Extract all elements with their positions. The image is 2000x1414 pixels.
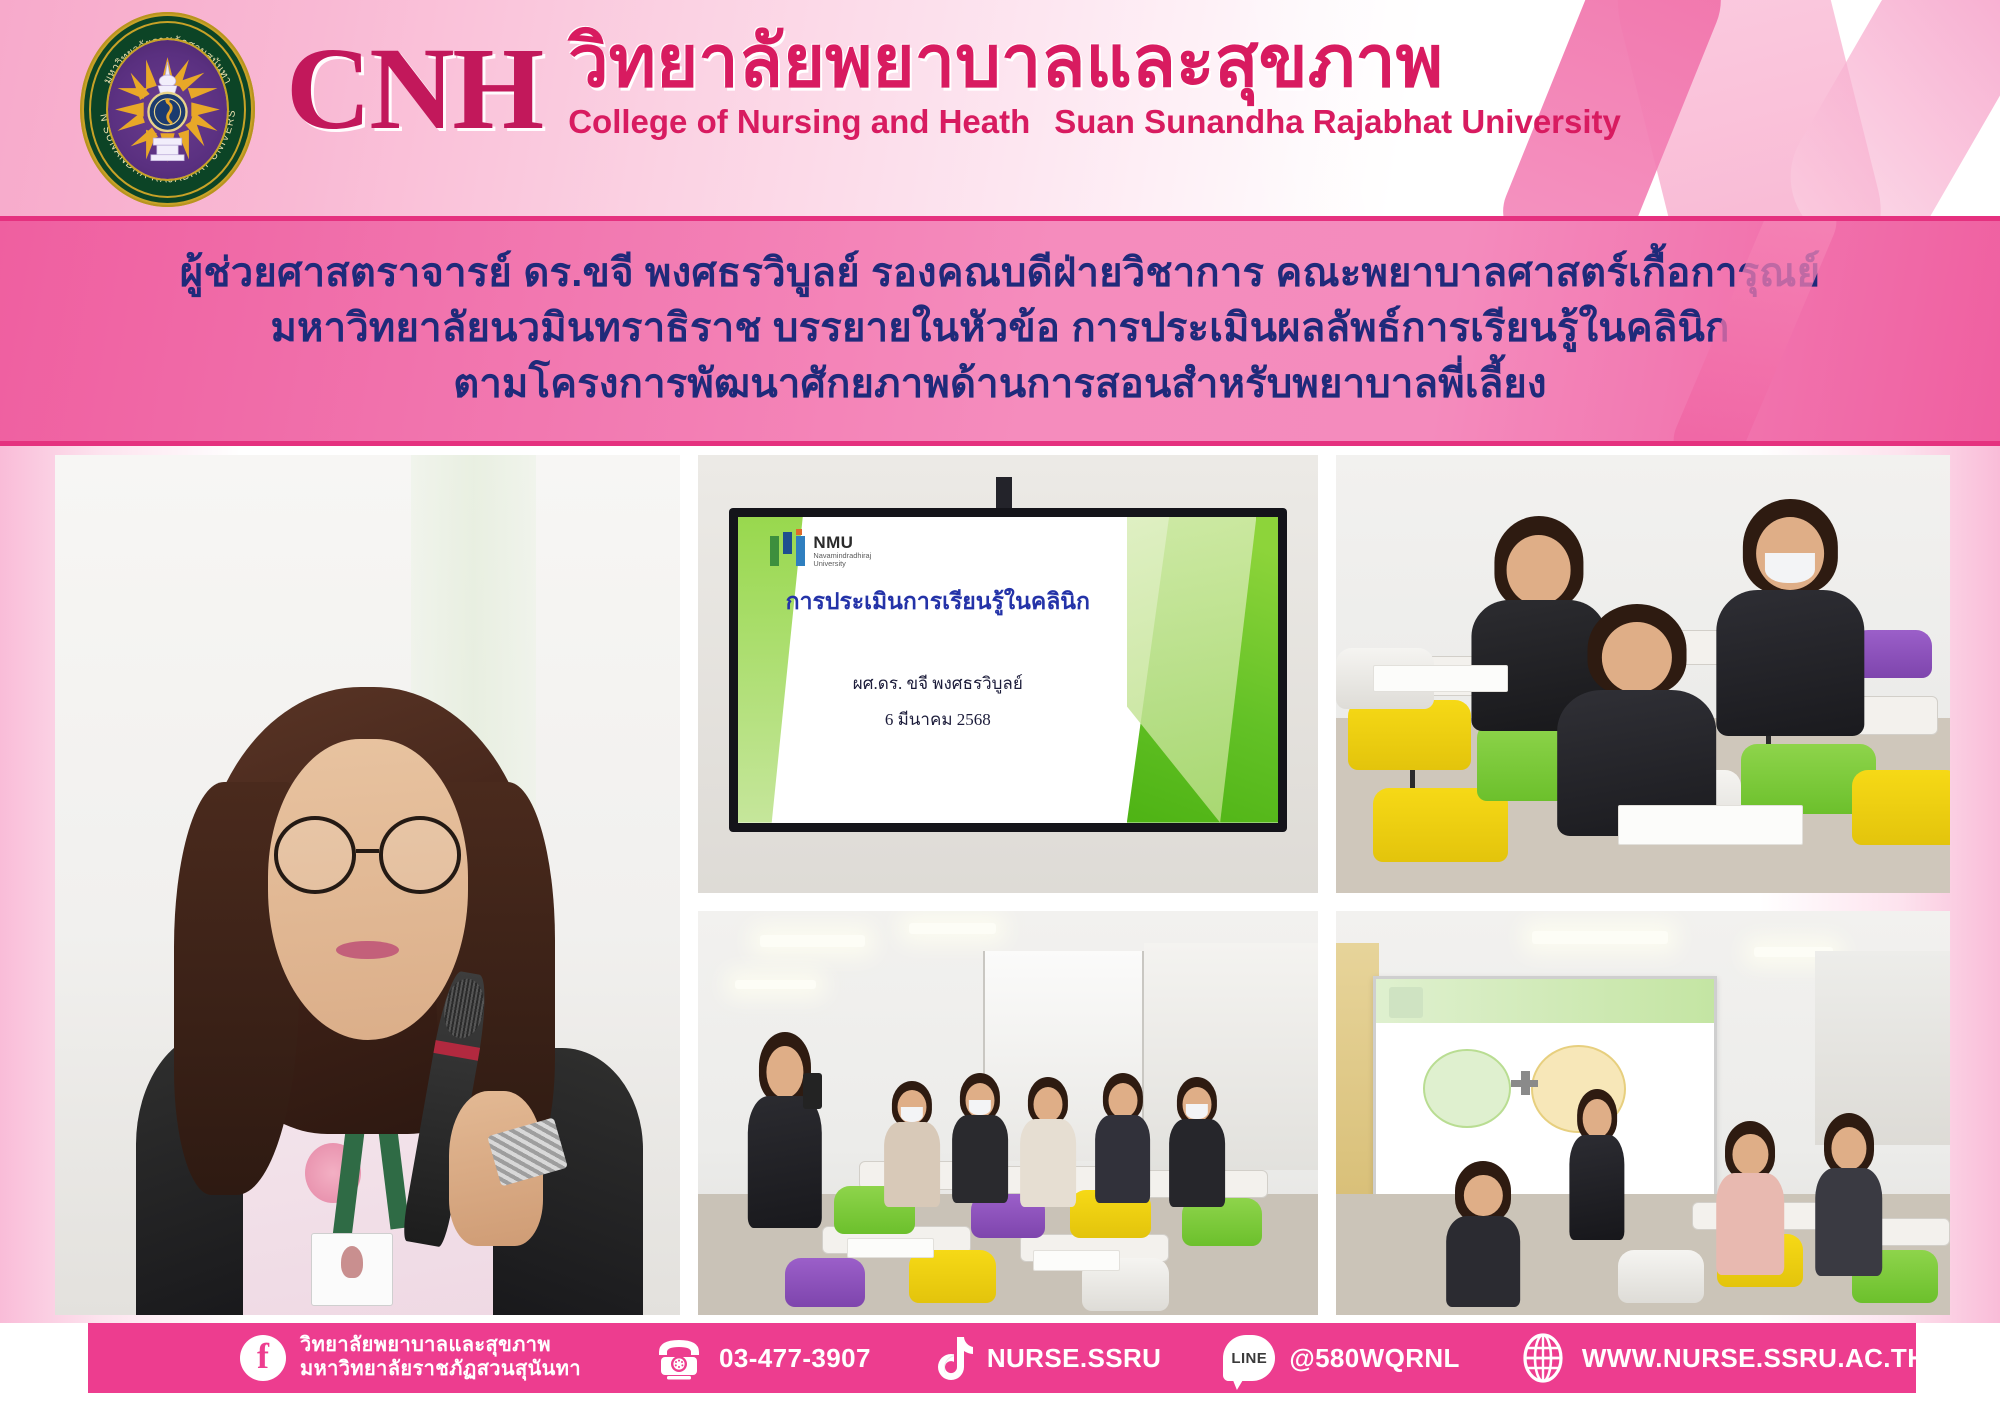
nmu-logo-name: NMU [813, 534, 871, 552]
projection-screen [1373, 976, 1717, 1202]
tiktok-icon[interactable] [933, 1335, 973, 1381]
tv-display: NMU Navamindradhiraj University การประเม… [729, 508, 1287, 832]
ssru-seal-icon: มหาวิทยาลัยราชภัฏสวนสุนันทา SUAN SUNANDH… [80, 12, 255, 207]
phone-icon[interactable] [653, 1336, 705, 1380]
line-id-label: @580WQRNL [1289, 1343, 1460, 1374]
eyeglasses-icon [274, 816, 462, 893]
footer-item-tiktok[interactable]: NURSE.SSRU [933, 1335, 1161, 1381]
college-name-thai: วิทยาลัยพยาบาลและสุขภาพ [568, 26, 1621, 99]
footer-item-facebook[interactable]: f วิทยาลัยพยาบาลและสุขภาพ มหาวิทยาลัยราช… [240, 1334, 581, 1381]
audience-person [1815, 1113, 1883, 1267]
footer-item-website[interactable]: WWW.NURSE.SSRU.AC.TH [1518, 1333, 1927, 1383]
audience-person [1717, 1121, 1785, 1266]
header-ribbon-decoration-2 [1592, 0, 1897, 216]
banner-line-2: มหาวิทยาลัยนวมินทราธิราช บรรยายในหัวข้อ … [270, 301, 1729, 356]
presenter-person [748, 1032, 822, 1226]
header-bar: มหาวิทยาลัยราชภัฏสวนสุนันทา SUAN SUNANDH… [0, 0, 2000, 216]
audience-person [1020, 1077, 1076, 1202]
facebook-label-line2: มหาวิทยาลัยราชภัฏสวนสุนันทา [300, 1358, 581, 1382]
footer-contact-bar: f วิทยาลัยพยาบาลและสุขภาพ มหาวิทยาลัยราช… [88, 1323, 1916, 1393]
seal-emblem [108, 40, 227, 179]
photo-classroom-wide [698, 911, 1318, 1315]
audience-person [1717, 499, 1864, 727]
facebook-icon[interactable]: f [240, 1335, 286, 1381]
audience-person [1095, 1073, 1151, 1198]
university-name-english: Suan Sunandha Rajabhat University [1054, 103, 1621, 140]
slide-date: 6 มีนาคม 2568 [738, 706, 1138, 733]
nmu-logo-icon: NMU Navamindradhiraj University [770, 532, 871, 570]
presenter-person [1569, 1089, 1624, 1234]
slide-screen: NMU Navamindradhiraj University การประเม… [738, 517, 1278, 823]
college-name-line: College of Nursing and HeathSuan Sunandh… [568, 103, 1621, 141]
phone-number-label: 03-477-3907 [719, 1343, 871, 1374]
website-url-label: WWW.NURSE.SSRU.AC.TH [1582, 1343, 1927, 1374]
college-name-english: College of Nursing and Heath [568, 103, 1030, 140]
audience-person [1169, 1077, 1225, 1202]
brand-lockup: CNH วิทยาลัยพยาบาลและสุขภาพ College of N… [286, 22, 1621, 148]
slide-presenter: ผศ.ดร. ขจี พงศธรวิบูลย์ [738, 670, 1138, 697]
banner-line-1: ผู้ช่วยศาสตราจารย์ ดร.ขจี พงศธรวิบูลย์ ร… [180, 246, 1820, 301]
nmu-logo-sub2: University [813, 560, 871, 568]
footer-item-line[interactable]: LINE @580WQRNL [1223, 1335, 1460, 1381]
photo-presentation-slide: NMU Navamindradhiraj University การประเม… [698, 455, 1318, 893]
slide-title: การประเมินการเรียนรู้ในคลินิก [738, 584, 1138, 620]
tiktok-handle-label: NURSE.SSRU [987, 1343, 1161, 1374]
title-banner: ผู้ช่วยศาสตราจารย์ ดร.ขจี พงศธรวิบูลย์ ร… [0, 216, 2000, 446]
line-badge-label: LINE [1231, 1350, 1267, 1367]
photo-grid: NMU Navamindradhiraj University การประเม… [55, 455, 1950, 1315]
header-ribbon-decoration-3 [1765, 0, 2000, 216]
audience-person [1447, 1161, 1521, 1298]
photo-audience-front [1336, 455, 1950, 893]
footer-item-phone[interactable]: 03-477-3907 [653, 1336, 871, 1380]
banner-line-3: ตามโครงการพัฒนาศักยภาพด้านการสอนสำหรับพย… [453, 357, 1547, 412]
photo-projector-session [1336, 911, 1950, 1315]
line-icon[interactable]: LINE [1223, 1335, 1275, 1381]
microphone-icon [803, 1073, 822, 1109]
cnh-acronym: CNH [286, 22, 542, 148]
poster-canvas: มหาวิทยาลัยราชภัฏสวนสุนันทา SUAN SUNANDH… [0, 0, 2000, 1414]
facebook-label-line1: วิทยาลัยพยาบาลและสุขภาพ [300, 1334, 581, 1358]
audience-person [1557, 604, 1717, 832]
audience-person [952, 1073, 1008, 1198]
globe-icon[interactable] [1518, 1333, 1568, 1383]
audience-person [884, 1081, 940, 1202]
photo-speaker-portrait [55, 455, 680, 1315]
